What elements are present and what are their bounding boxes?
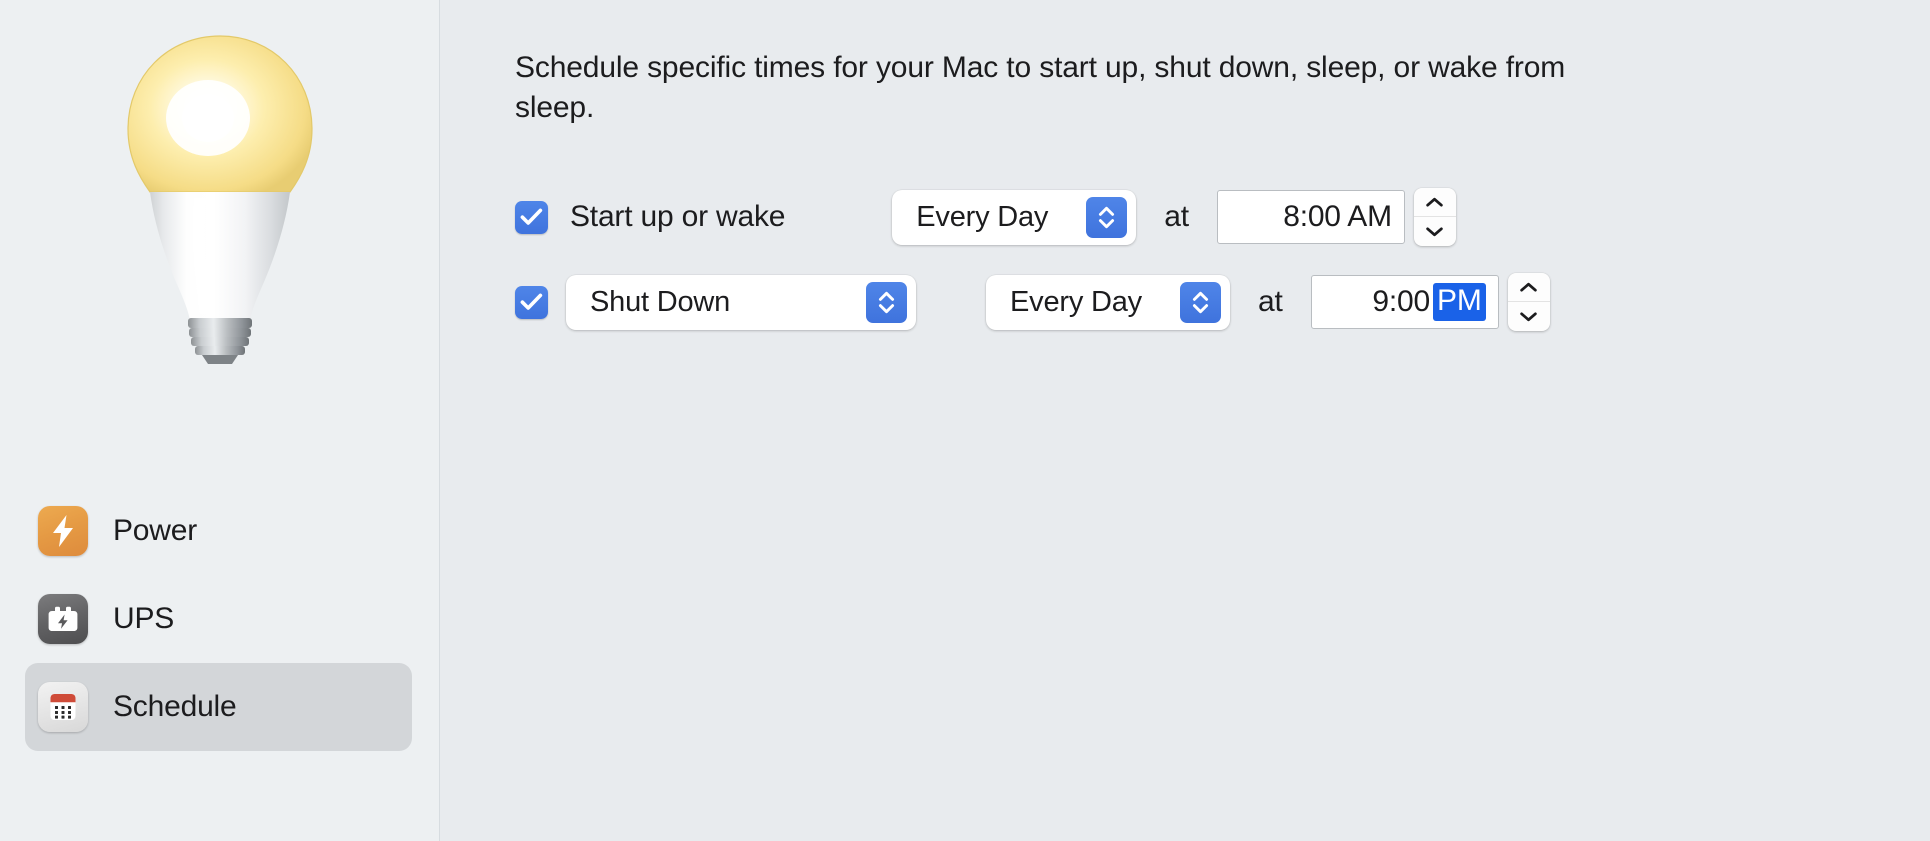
shutdown-day-popup[interactable]: Every Day <box>986 275 1230 330</box>
sidebar-item-label-ups: UPS <box>113 602 174 636</box>
sidebar-item-ups[interactable]: UPS <box>25 575 412 663</box>
shutdown-checkbox[interactable] <box>515 286 548 319</box>
schedule-rows: Start up or wake Every Day at 8:00 <box>515 185 1815 355</box>
stepper-up-icon[interactable] <box>1414 188 1456 217</box>
shutdown-time-meridiem-selected[interactable]: PM <box>1433 283 1486 321</box>
calendar-icon <box>38 682 88 732</box>
sidebar-item-label-power: Power <box>113 514 197 548</box>
shutdown-time-stepper[interactable] <box>1508 273 1550 331</box>
sidebar-item-schedule[interactable]: Schedule <box>25 663 412 751</box>
stepper-down-icon[interactable] <box>1414 217 1456 246</box>
power-bolt-icon <box>38 506 88 556</box>
shutdown-action-popup[interactable]: Shut Down <box>566 275 916 330</box>
startup-day-value: Every Day <box>916 201 1068 234</box>
chevron-up-down-icon <box>1180 282 1221 323</box>
battery-bolt-icon <box>38 594 88 644</box>
startup-time-stepper[interactable] <box>1414 188 1456 246</box>
lightbulb-illustration <box>0 26 440 396</box>
at-label-row1: at <box>1164 200 1189 234</box>
startup-day-popup[interactable]: Every Day <box>892 190 1136 245</box>
shutdown-time-value: 9:00 <box>1372 285 1430 319</box>
energy-saver-window: Power UPS <box>0 0 1930 841</box>
pane-description: Schedule specific times for your Mac to … <box>515 48 1595 127</box>
startup-wake-checkbox[interactable] <box>515 201 548 234</box>
stepper-up-icon[interactable] <box>1508 273 1550 302</box>
shutdown-action-value: Shut Down <box>590 286 848 319</box>
sidebar-nav: Power UPS <box>0 487 440 751</box>
sidebar: Power UPS <box>0 0 440 841</box>
schedule-row-shutdown: Shut Down Every Day <box>515 270 1815 334</box>
startup-wake-label: Start up or wake <box>570 200 785 234</box>
sidebar-item-label-schedule: Schedule <box>113 690 237 724</box>
sidebar-item-power[interactable]: Power <box>25 487 412 575</box>
stepper-down-icon[interactable] <box>1508 302 1550 331</box>
schedule-pane: Schedule specific times for your Mac to … <box>440 0 1930 841</box>
at-label-row2: at <box>1258 285 1283 319</box>
chevron-up-down-icon <box>1086 197 1127 238</box>
schedule-row-startup: Start up or wake Every Day at 8:00 <box>515 185 1815 249</box>
startup-time-value: 8:00 AM <box>1283 200 1392 234</box>
shutdown-day-value: Every Day <box>1010 286 1162 319</box>
shutdown-time-field[interactable]: 9:00 PM <box>1311 275 1499 329</box>
startup-time-field[interactable]: 8:00 AM <box>1217 190 1405 244</box>
chevron-up-down-icon <box>866 282 907 323</box>
